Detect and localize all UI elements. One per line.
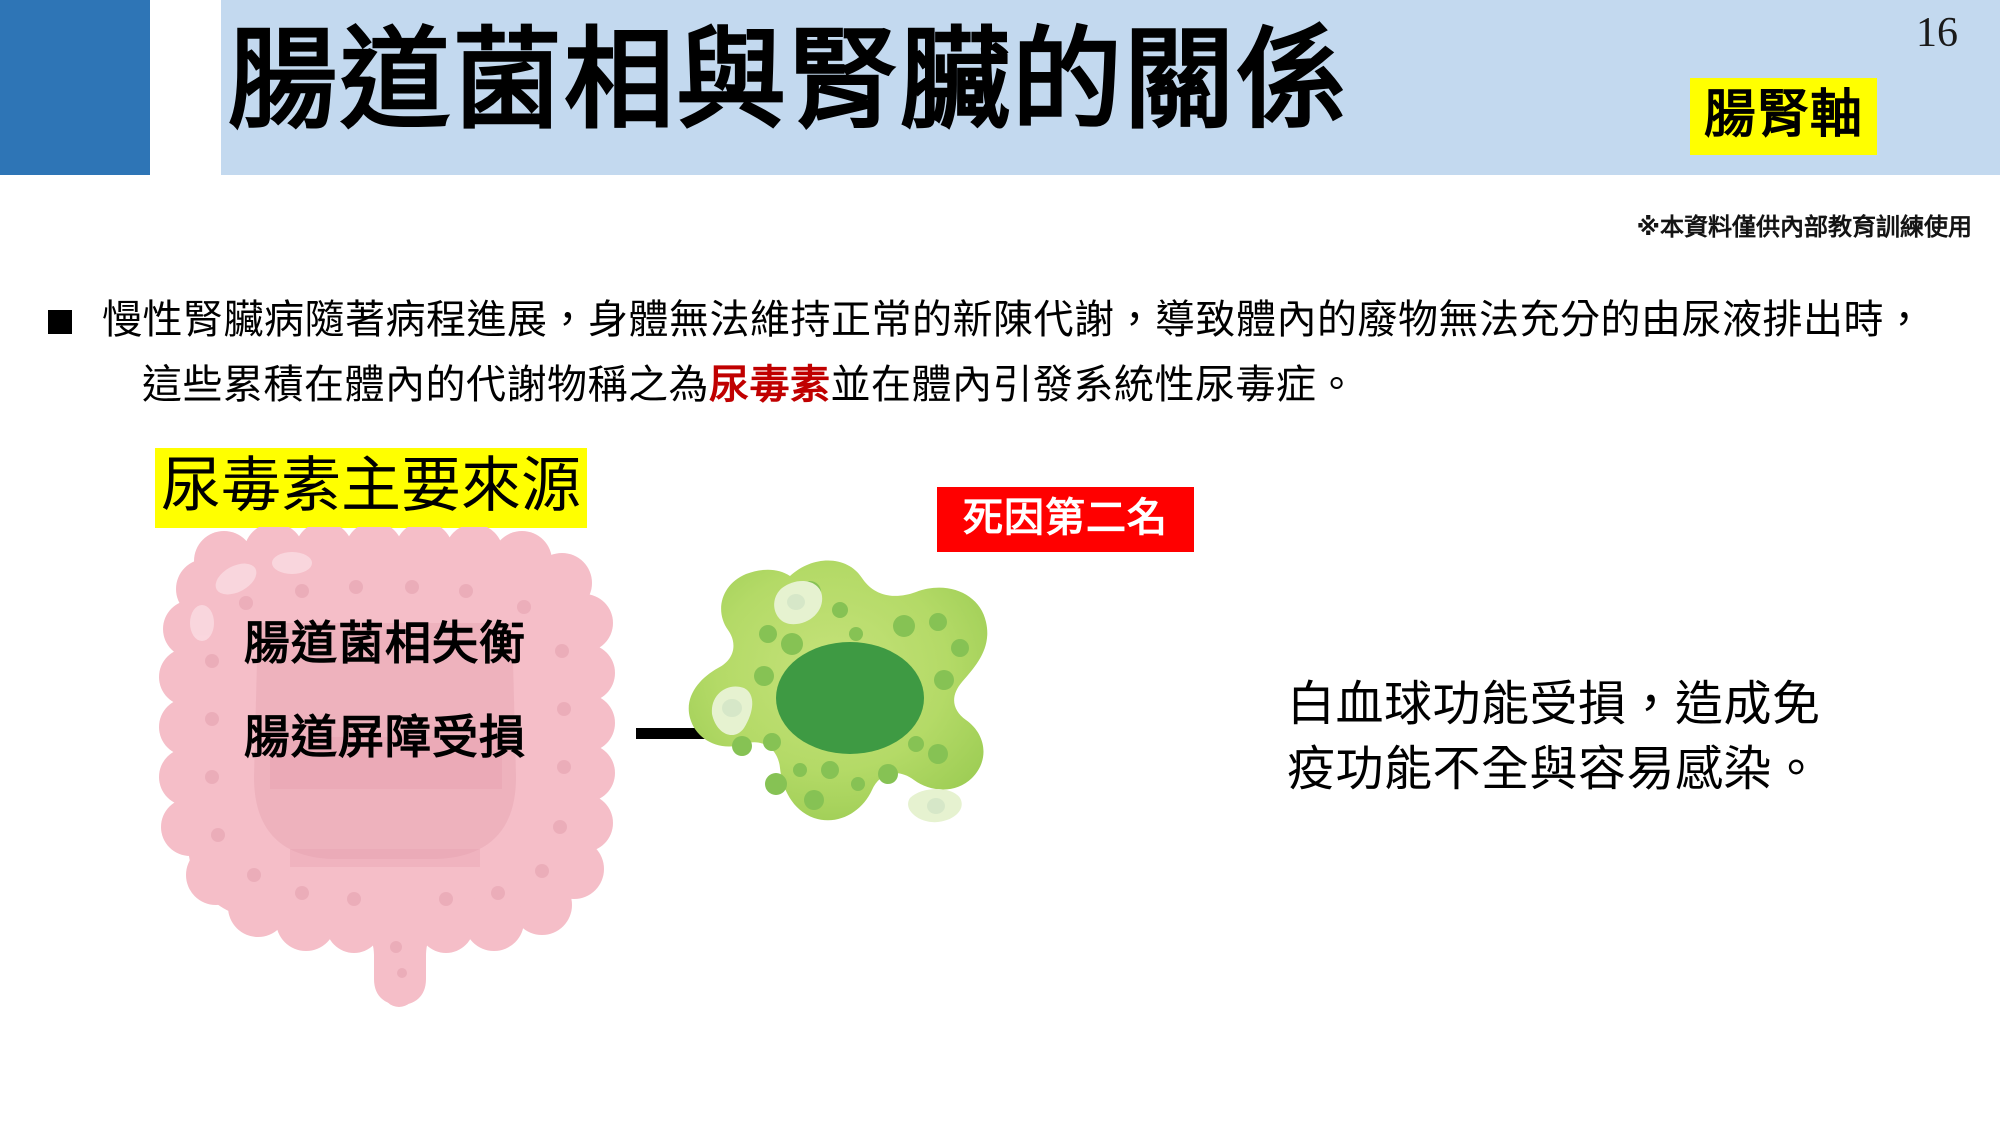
intestine-caption-line-2: 腸道屏障受損 (150, 714, 620, 760)
bullet-line-2: 這些累積在體內的代謝物稱之為尿毒素並在體內引發系統性尿毒症。 (142, 353, 1978, 418)
page-number: 16 (1916, 12, 1958, 54)
bullet-paragraph: 慢性腎臟病隨著病程進展，身體無法維持正常的新陳代謝，導致體內的廢物無法充分的由尿… (48, 288, 1978, 418)
header-accent-bar (0, 0, 150, 175)
intestine-caption: 腸道菌相失衡 腸道屏障受損 (150, 620, 620, 760)
internal-use-disclaimer: ※本資料僅供內部教育訓練使用 (1637, 207, 1972, 242)
uremic-toxin-emphasis: 尿毒素 (709, 363, 831, 407)
immune-outcome-line-1: 白血球功能受損，造成免 (1287, 672, 1927, 737)
page-title: 腸道菌相與腎臟的關係 (228, 6, 1428, 156)
bullet-line-2-after: 並在體內引發系統性尿毒症。 (831, 363, 1358, 407)
gut-kidney-axis-badge: 腸腎軸 (1690, 78, 1877, 155)
intestine-illustration (150, 527, 620, 1007)
intestine-caption-line-1: 腸道菌相失衡 (244, 617, 526, 669)
bullet-line-1: 慢性腎臟病隨著病程進展，身體無法維持正常的新陳代謝，導致體內的廢物無法充分的由尿… (102, 298, 1925, 342)
bullet-text: 慢性腎臟病隨著病程進展，身體無法維持正常的新陳代謝，導致體內的廢物無法充分的由尿… (102, 288, 1978, 418)
uremic-toxin-source-label: 尿毒素主要來源 (155, 448, 587, 528)
immune-outcome-text: 白血球功能受損，造成免 疫功能不全與容易感染。 (1287, 672, 1927, 803)
immune-outcome-line-2: 疫功能不全與容易感染。 (1287, 737, 1927, 802)
bullet-line-2-before: 這些累積在體內的代謝物稱之為 (142, 363, 709, 407)
square-bullet-icon (48, 310, 72, 334)
slide-canvas: 腸道菌相與腎臟的關係 16 腸腎軸 ※本資料僅供內部教育訓練使用 慢性腎臟病隨著… (0, 0, 2000, 1125)
white-blood-cell-illustration (672, 548, 1002, 878)
death-cause-rank-badge: 死因第二名 (937, 487, 1194, 552)
